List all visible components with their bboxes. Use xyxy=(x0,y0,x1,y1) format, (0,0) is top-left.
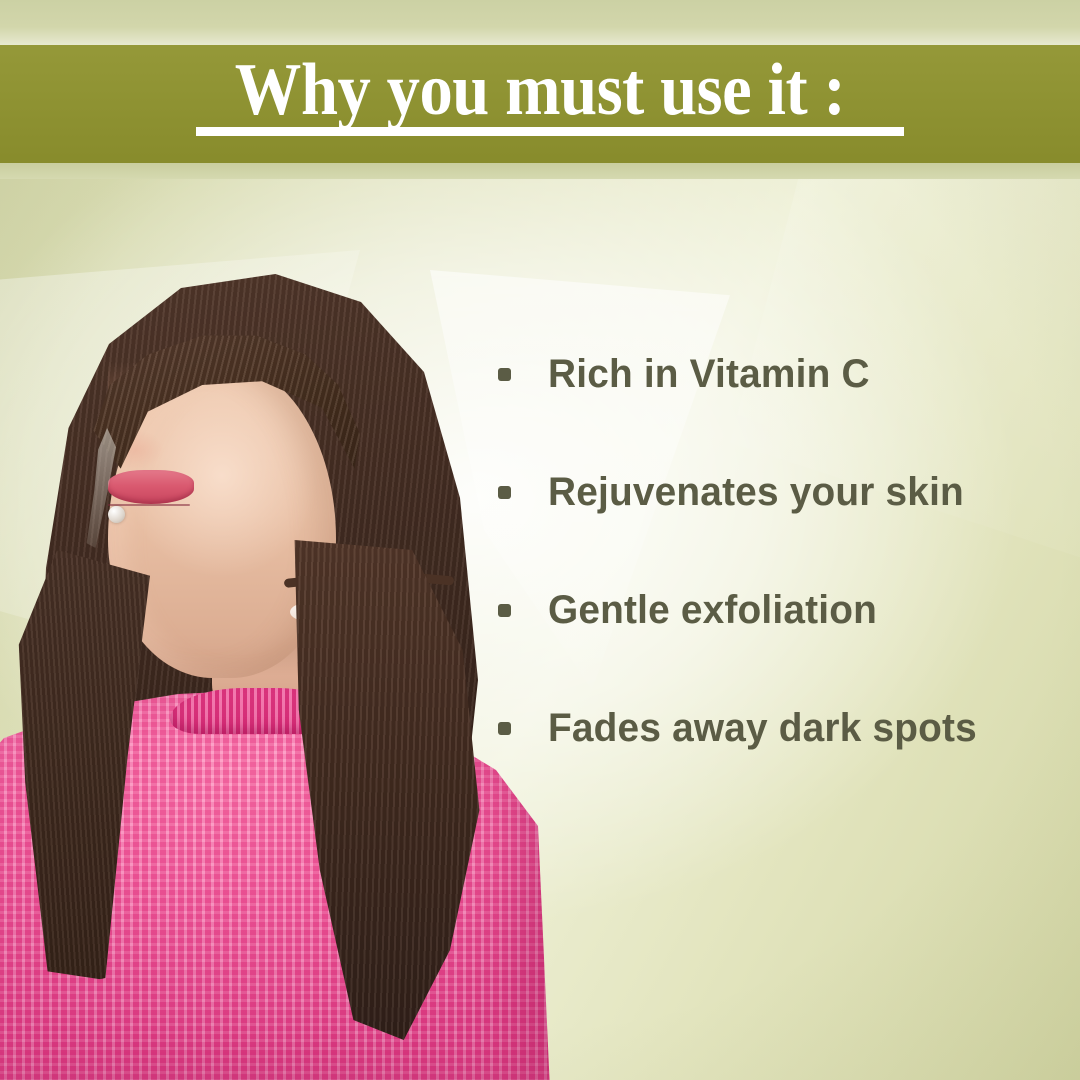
bullet-dot-icon xyxy=(498,486,511,499)
portrait-woman-photo xyxy=(0,250,580,1080)
list-item: Rejuvenates your skin xyxy=(498,458,1058,526)
list-item: Rich in Vitamin C xyxy=(498,340,1058,408)
promo-canvas: Why you must use it : Rich in Vitamin C … xyxy=(0,0,1080,1080)
list-item: Gentle exfoliation xyxy=(498,576,1058,644)
title-underline xyxy=(196,127,904,136)
page-title: Why you must use it : xyxy=(54,50,1026,130)
benefit-label: Rejuvenates your skin xyxy=(548,469,964,515)
list-item: Fades away dark spots xyxy=(498,694,1058,762)
pearl-earring xyxy=(108,506,125,523)
bullet-dot-icon xyxy=(498,722,511,735)
bullet-dot-icon xyxy=(498,368,511,381)
lip-line xyxy=(108,504,190,506)
benefit-label: Fades away dark spots xyxy=(548,705,977,751)
lips xyxy=(108,470,194,504)
benefits-list: Rich in Vitamin C Rejuvenates your skin … xyxy=(498,340,1058,762)
benefit-label: Rich in Vitamin C xyxy=(548,351,870,397)
benefit-label: Gentle exfoliation xyxy=(548,587,877,633)
header-top-strip xyxy=(0,0,1080,45)
header-bottom-strip xyxy=(0,163,1080,179)
bullet-dot-icon xyxy=(498,604,511,617)
